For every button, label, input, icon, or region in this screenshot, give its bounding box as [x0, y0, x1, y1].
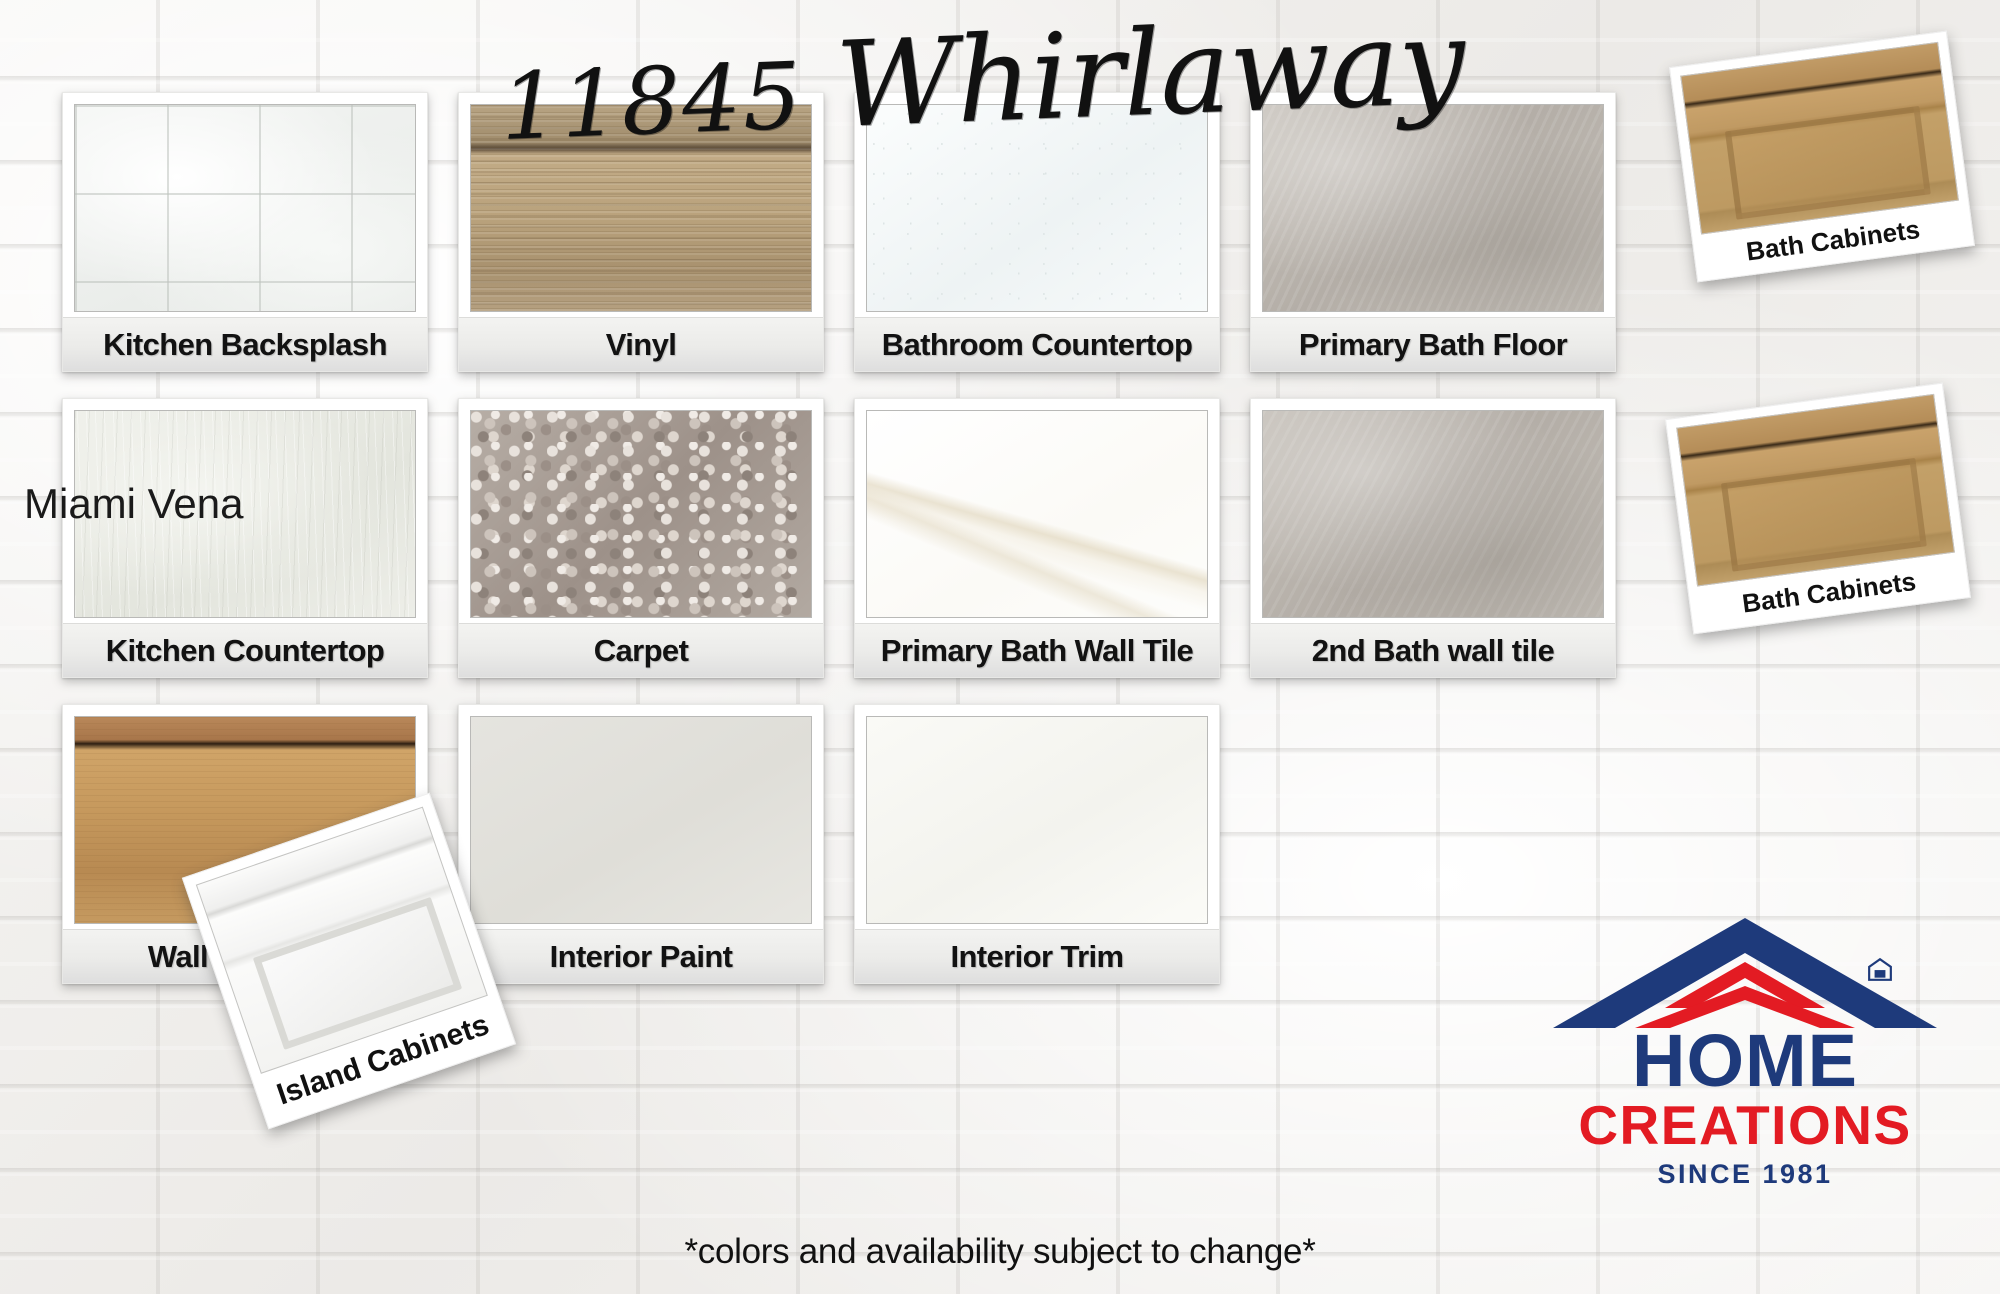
swatch-image-interior-trim	[866, 716, 1208, 924]
logo-roof-mark	[1545, 912, 1945, 1030]
swatch-label: Vinyl	[459, 317, 823, 371]
logo-line-home: HOME	[1545, 1026, 1945, 1096]
disclaimer-text: *colors and availability subject to chan…	[0, 1232, 2000, 1272]
swatch-card-primary-bath-wall-tile[interactable]: Primary Bath Wall Tile	[854, 398, 1220, 678]
cabinet-door-image-wood	[1676, 394, 1955, 587]
design-selection-board: 11845 Whirlaway Kitchen Backsplash Vinyl…	[0, 0, 2000, 1294]
swatch-card-kitchen-countertop[interactable]: Kitchen Countertop	[62, 398, 428, 678]
tilted-card-bath-cabinets-lower[interactable]: Bath Cabinets	[1665, 383, 1971, 635]
swatch-card-interior-trim[interactable]: Interior Trim	[854, 704, 1220, 984]
swatch-label: Kitchen Countertop	[63, 623, 427, 677]
swatch-label: 2nd Bath wall tile	[1251, 623, 1615, 677]
swatch-image-interior-paint	[470, 716, 812, 924]
title-street-name: Whirlaway	[833, 0, 1466, 154]
swatch-card-2nd-bath-wall-tile[interactable]: 2nd Bath wall tile	[1250, 398, 1616, 678]
page-title: 11845 Whirlaway	[498, 7, 1282, 161]
swatch-card-interior-paint[interactable]: Interior Paint	[458, 704, 824, 984]
swatch-image-2nd-bath-wall-tile	[1262, 410, 1604, 618]
swatch-label: Primary Bath Wall Tile	[855, 623, 1219, 677]
kitchen-countertop-product-name: Miami Vena	[24, 480, 243, 528]
logo-line-creations: CREATIONS	[1545, 1098, 1945, 1153]
home-creations-logo: HOME CREATIONS SINCE 1981	[1545, 912, 1945, 1182]
swatch-image-kitchen-backsplash	[74, 104, 416, 312]
swatch-label: Kitchen Backsplash	[63, 317, 427, 371]
cabinet-door-image-wood	[1680, 42, 1959, 235]
swatch-label: Primary Bath Floor	[1251, 317, 1615, 371]
swatch-image-carpet	[470, 410, 812, 618]
swatch-image-primary-bath-wall-tile	[866, 410, 1208, 618]
logo-line-since: SINCE 1981	[1545, 1159, 1945, 1190]
equal-housing-opportunity-icon	[1867, 956, 1893, 982]
swatch-card-kitchen-backsplash[interactable]: Kitchen Backsplash	[62, 92, 428, 372]
swatch-card-carpet[interactable]: Carpet	[458, 398, 824, 678]
swatch-label: Interior Trim	[855, 929, 1219, 983]
tilted-card-bath-cabinets-upper[interactable]: Bath Cabinets	[1669, 31, 1975, 283]
swatch-label: Carpet	[459, 623, 823, 677]
title-address-number: 11845	[499, 42, 806, 161]
swatch-label: Interior Paint	[459, 929, 823, 983]
swatch-label: Bathroom Countertop	[855, 317, 1219, 371]
